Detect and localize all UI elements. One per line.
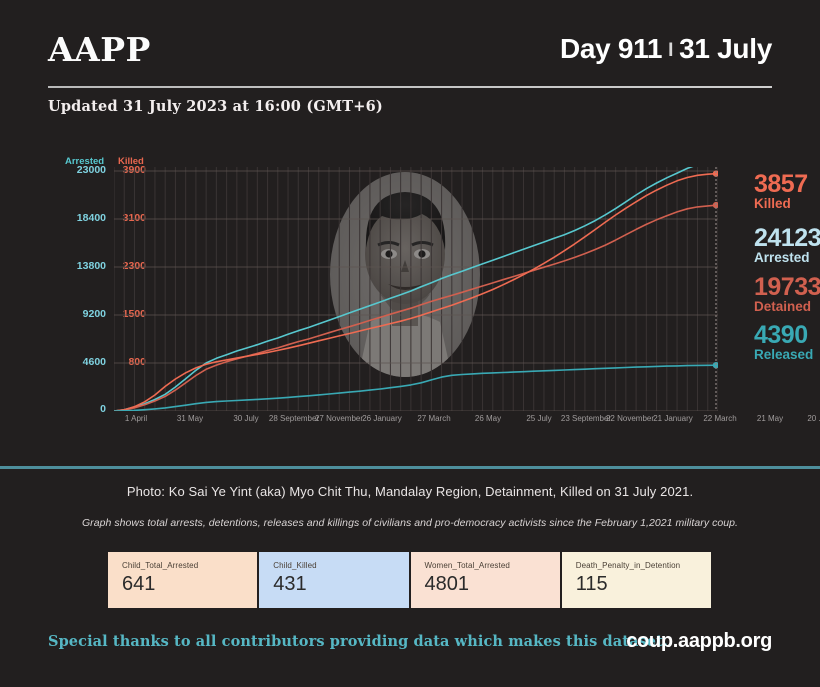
thanks-text: Special thanks to all contributors provi… xyxy=(48,633,668,650)
xtick-12: 22 March xyxy=(703,414,736,423)
callout-arrested-label: Arrested xyxy=(754,250,820,265)
xtick-14: 20 . xyxy=(807,414,820,423)
callout-arrested-value: 24123 xyxy=(754,226,820,250)
xtick-11: 21 January xyxy=(653,414,693,423)
day-counter: Day 911I31 July xyxy=(560,33,772,65)
callout-killed-value: 3857 xyxy=(754,172,808,196)
xtick-2: 30 July xyxy=(233,414,258,423)
ytick-arrested-0: 0 xyxy=(58,403,106,415)
brand-title: AAPP xyxy=(48,30,151,69)
day-separator: I xyxy=(662,40,679,61)
xtick-13: 21 May xyxy=(757,414,783,423)
stat-card-child-total-arrested[interactable]: Child_Total_Arrested 641 xyxy=(108,552,257,608)
site-url[interactable]: coup.aappb.org xyxy=(626,630,772,653)
callout-released: 4390 Released xyxy=(754,323,813,362)
stat-cards: Child_Total_Arrested 641 Child_Killed 43… xyxy=(108,552,711,608)
ytick-arrested-2: 9200 xyxy=(58,308,106,320)
xtick-7: 26 May xyxy=(475,414,501,423)
stat-card-label: Death_Penalty_in_Detention xyxy=(576,561,711,570)
xtick-5: 26 January xyxy=(362,414,402,423)
chart-lines xyxy=(114,167,718,411)
stat-card-value: 4801 xyxy=(425,572,560,596)
stat-card-death-penalty-in-detention[interactable]: Death_Penalty_in_Detention 115 xyxy=(562,552,711,608)
graph-note: Graph shows total arrests, detentions, r… xyxy=(0,517,820,529)
callout-killed: 3857 Killed xyxy=(754,172,808,211)
infographic-page: AAPP Day 911I31 July Updated 31 July 202… xyxy=(0,0,820,687)
xtick-9: 23 September xyxy=(561,414,611,423)
callout-detained-label: Detained xyxy=(754,299,820,314)
xtick-0: 1 April xyxy=(125,414,147,423)
date-label: 31 July xyxy=(679,33,772,64)
xtick-10: 22 November xyxy=(606,414,654,423)
x-axis: 1 April 31 May 30 July 28 September 27 N… xyxy=(114,414,774,438)
header: AAPP Day 911I31 July xyxy=(48,30,772,102)
callout-killed-label: Killed xyxy=(754,196,808,211)
callout-arrested: 24123 Arrested xyxy=(754,226,820,265)
stat-card-value: 115 xyxy=(576,572,711,596)
callout-released-label: Released xyxy=(754,347,813,362)
plot-area xyxy=(114,167,718,411)
xtick-8: 25 July xyxy=(526,414,551,423)
stat-card-value: 431 xyxy=(273,572,408,596)
ytick-arrested-4: 18400 xyxy=(58,212,106,224)
callout-released-value: 4390 xyxy=(754,323,813,347)
day-label: Day 911 xyxy=(560,33,662,64)
stat-card-women-total-arrested[interactable]: Women_Total_Arrested 4801 xyxy=(411,552,560,608)
ytick-arrested-5: 23000 xyxy=(58,164,106,176)
section-divider xyxy=(0,466,820,469)
stat-card-value: 641 xyxy=(122,572,257,596)
xtick-4: 27 November xyxy=(315,414,363,423)
ytick-arrested-1: 4600 xyxy=(58,356,106,368)
stat-card-label: Child_Total_Arrested xyxy=(122,561,257,570)
stat-card-label: Women_Total_Arrested xyxy=(425,561,560,570)
ytick-arrested-3: 13800 xyxy=(58,260,106,272)
stat-card-child-killed[interactable]: Child_Killed 431 xyxy=(259,552,408,608)
callout-detained: 19733 Detained xyxy=(754,275,820,314)
chart: Arrested Killed 23000 18400 13800 9200 4… xyxy=(48,150,772,440)
xtick-1: 31 May xyxy=(177,414,203,423)
callout-detained-value: 19733 xyxy=(754,275,820,299)
updated-timestamp: Updated 31 July 2023 at 16:00 (GMT+6) xyxy=(48,98,383,115)
stat-card-label: Child_Killed xyxy=(273,561,408,570)
header-rule xyxy=(48,86,772,88)
xtick-3: 28 September xyxy=(269,414,319,423)
photo-caption: Photo: Ko Sai Ye Yint (aka) Myo Chit Thu… xyxy=(0,484,820,499)
xtick-6: 27 March xyxy=(417,414,450,423)
